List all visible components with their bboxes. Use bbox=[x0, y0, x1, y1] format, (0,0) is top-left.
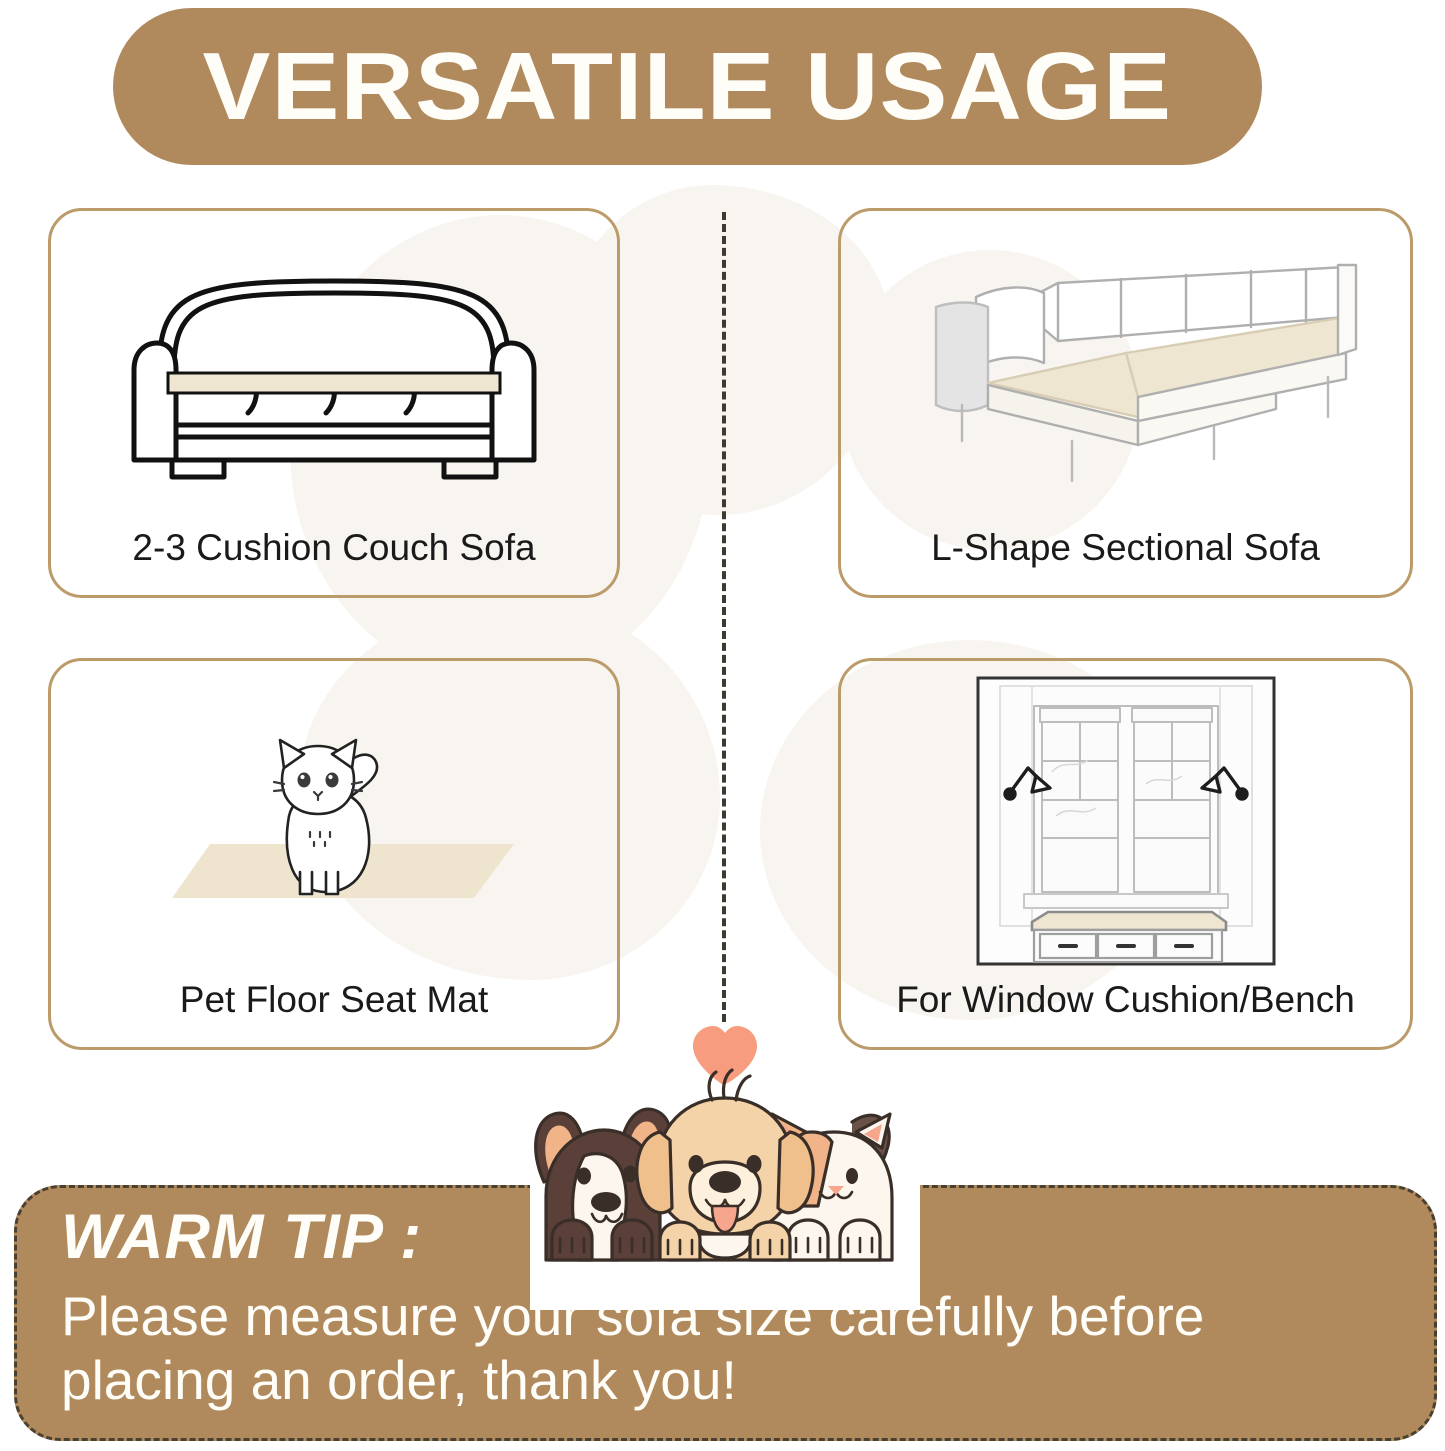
usage-card-window-cushion-bench[interactable]: For Window Cushion/Bench bbox=[838, 658, 1413, 1050]
window-bench-icon bbox=[976, 676, 1276, 966]
usage-card-caption: L-Shape Sectional Sofa bbox=[841, 528, 1410, 595]
page-title: VERSATILE USAGE bbox=[203, 39, 1173, 135]
warm-tip-line-2: placing an order, thank you! bbox=[61, 1349, 1394, 1413]
vertical-dashed-divider bbox=[722, 212, 726, 1022]
cat-on-mat-art bbox=[51, 661, 617, 980]
infographic-canvas: VERSATILE USAGE bbox=[0, 0, 1445, 1451]
window-bench-art bbox=[841, 661, 1410, 980]
heart-icon bbox=[693, 1026, 757, 1084]
cat-on-mat-icon bbox=[114, 696, 554, 946]
couch-sofa-art bbox=[51, 211, 617, 528]
sectional-sofa-art bbox=[841, 211, 1410, 528]
usage-card-cushion-couch-sofa[interactable]: 2-3 Cushion Couch Sofa bbox=[48, 208, 620, 598]
page-title-banner: VERSATILE USAGE bbox=[113, 8, 1262, 165]
pets-group-icon bbox=[500, 1010, 950, 1310]
pets-illustration bbox=[500, 1010, 950, 1310]
usage-card-l-shape-sectional-sofa[interactable]: L-Shape Sectional Sofa bbox=[838, 208, 1413, 598]
usage-card-caption: 2-3 Cushion Couch Sofa bbox=[51, 528, 617, 595]
sectional-sofa-icon bbox=[876, 245, 1376, 495]
usage-card-pet-floor-seat-mat[interactable]: Pet Floor Seat Mat bbox=[48, 658, 620, 1050]
couch-sofa-icon bbox=[124, 255, 544, 485]
